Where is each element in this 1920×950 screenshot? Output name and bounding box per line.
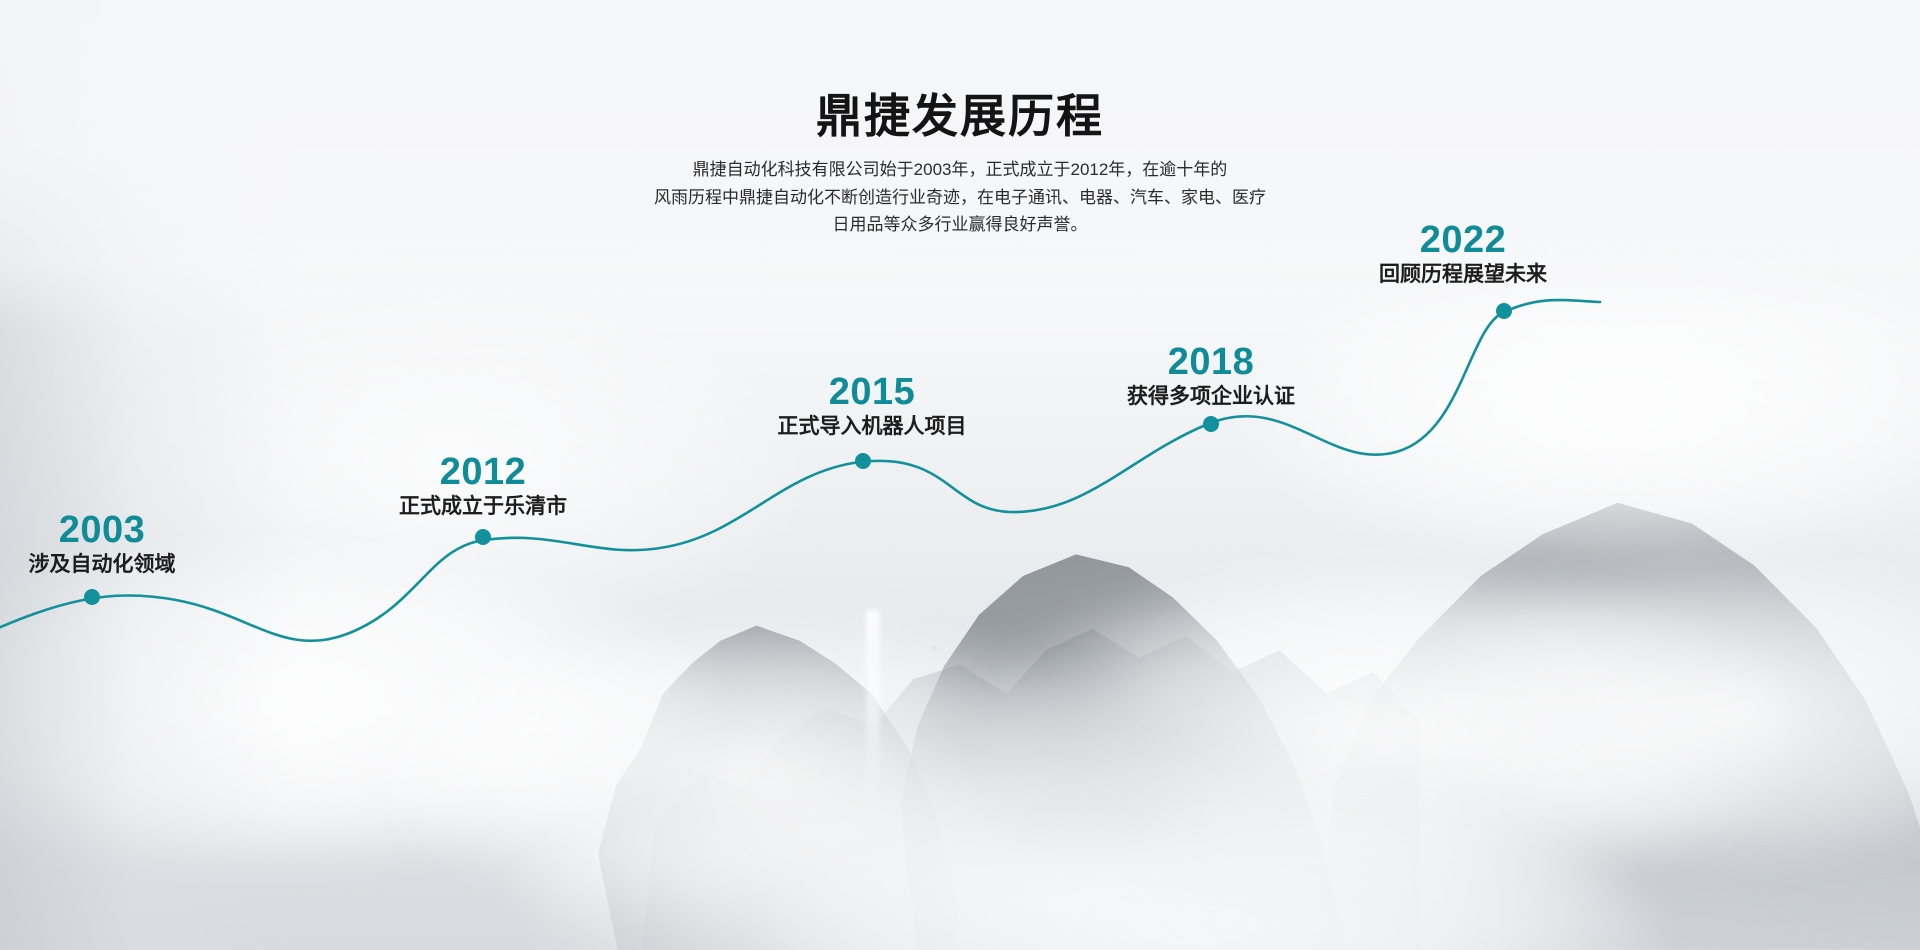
milestone-2018[interactable]: 2018获得多项企业认证 <box>1127 342 1295 409</box>
milestone-2018-year: 2018 <box>1127 342 1295 382</box>
infographic-stage: 鼎捷发展历程 鼎捷自动化科技有限公司始于2003年，正式成立于2012年，在逾十… <box>0 0 1920 950</box>
subtitle-line-3: 日用品等众多行业赢得良好声誉。 <box>0 211 1920 239</box>
milestone-2015[interactable]: 2015正式导入机器人项目 <box>778 372 967 439</box>
header: 鼎捷发展历程 鼎捷自动化科技有限公司始于2003年，正式成立于2012年，在逾十… <box>0 0 1920 239</box>
milestone-2003[interactable]: 2003涉及自动化领域 <box>29 510 176 577</box>
milestone-2022-dot[interactable] <box>1496 303 1512 319</box>
milestone-2015-dot[interactable] <box>855 453 871 469</box>
subtitle-line-1: 鼎捷自动化科技有限公司始于2003年，正式成立于2012年，在逾十年的 <box>0 156 1920 184</box>
milestone-2003-dot[interactable] <box>84 589 100 605</box>
milestone-2018-description: 获得多项企业认证 <box>1127 384 1295 409</box>
page-title: 鼎捷发展历程 <box>0 0 1920 140</box>
subtitle-line-2: 风雨历程中鼎捷自动化不断创造行业奇迹，在电子通讯、电器、汽车、家电、医疗 <box>0 184 1920 212</box>
milestone-2022-year: 2022 <box>1379 220 1547 260</box>
milestone-2012[interactable]: 2012正式成立于乐清市 <box>399 452 567 519</box>
timeline-curve <box>0 300 1600 641</box>
milestone-2015-year: 2015 <box>778 372 967 412</box>
milestone-2015-description: 正式导入机器人项目 <box>778 414 967 439</box>
milestone-2022-description: 回顾历程展望未来 <box>1379 262 1547 287</box>
milestone-2003-year: 2003 <box>29 510 176 550</box>
milestone-2022[interactable]: 2022回顾历程展望未来 <box>1379 220 1547 287</box>
milestone-2012-dot[interactable] <box>475 529 491 545</box>
milestone-2003-description: 涉及自动化领域 <box>29 552 176 577</box>
milestone-2018-dot[interactable] <box>1203 416 1219 432</box>
milestone-2012-year: 2012 <box>399 452 567 492</box>
timeline-dot-group <box>84 303 1512 605</box>
milestone-2012-description: 正式成立于乐清市 <box>399 494 567 519</box>
page-subtitle: 鼎捷自动化科技有限公司始于2003年，正式成立于2012年，在逾十年的 风雨历程… <box>0 156 1920 239</box>
